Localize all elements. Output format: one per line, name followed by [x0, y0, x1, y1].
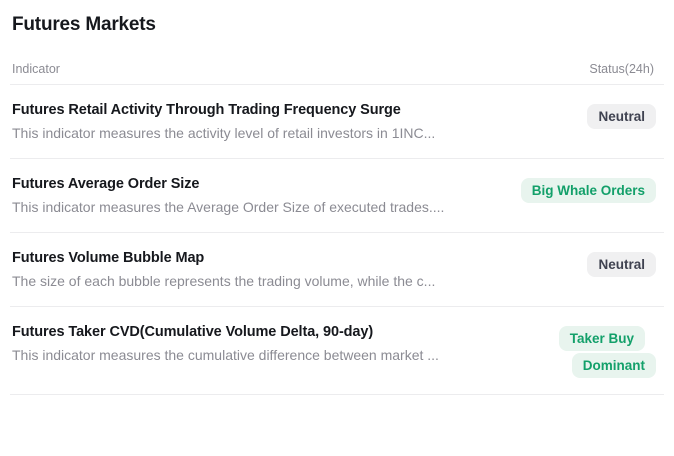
indicator-status-cell: Neutral — [587, 247, 662, 278]
indicator-title[interactable]: Futures Volume Bubble Map — [12, 248, 577, 268]
indicator-title[interactable]: Futures Taker CVD(Cumulative Volume Delt… — [12, 322, 494, 342]
indicator-row[interactable]: Futures Volume Bubble Map The size of ea… — [10, 233, 664, 307]
indicator-description: This indicator measures the activity lev… — [12, 123, 577, 143]
indicator-description: The size of each bubble represents the t… — [12, 271, 577, 291]
indicator-row[interactable]: Futures Average Order Size This indicato… — [10, 159, 664, 233]
column-header-status: Status(24h) — [589, 61, 662, 77]
indicator-row[interactable]: Futures Retail Activity Through Trading … — [10, 85, 664, 159]
indicator-list: Futures Retail Activity Through Trading … — [10, 85, 664, 395]
indicator-title[interactable]: Futures Retail Activity Through Trading … — [12, 100, 577, 120]
column-header-indicator: Indicator — [12, 61, 60, 77]
status-badge: Neutral — [587, 252, 656, 277]
indicator-status-cell: Taker Buy Dominant — [504, 321, 662, 379]
column-header-row: Indicator Status(24h) — [10, 38, 664, 85]
indicator-row-main: Futures Retail Activity Through Trading … — [12, 99, 577, 143]
status-badge: Taker Buy Dominant — [559, 326, 656, 378]
futures-markets-panel: Futures Markets Indicator Status(24h) Fu… — [0, 0, 674, 395]
indicator-description: This indicator measures the cumulative d… — [12, 345, 494, 365]
indicator-row[interactable]: Futures Taker CVD(Cumulative Volume Delt… — [10, 307, 664, 395]
status-badge: Big Whale Orders — [521, 178, 656, 203]
page-title: Futures Markets — [10, 0, 664, 38]
indicator-title[interactable]: Futures Average Order Size — [12, 174, 511, 194]
indicator-row-main: Futures Taker CVD(Cumulative Volume Delt… — [12, 321, 494, 365]
indicator-description: This indicator measures the Average Orde… — [12, 197, 511, 217]
indicator-status-cell: Neutral — [587, 99, 662, 130]
status-badge: Neutral — [587, 104, 656, 129]
indicator-row-main: Futures Average Order Size This indicato… — [12, 173, 511, 217]
indicator-status-cell: Big Whale Orders — [521, 173, 662, 204]
indicator-row-main: Futures Volume Bubble Map The size of ea… — [12, 247, 577, 291]
